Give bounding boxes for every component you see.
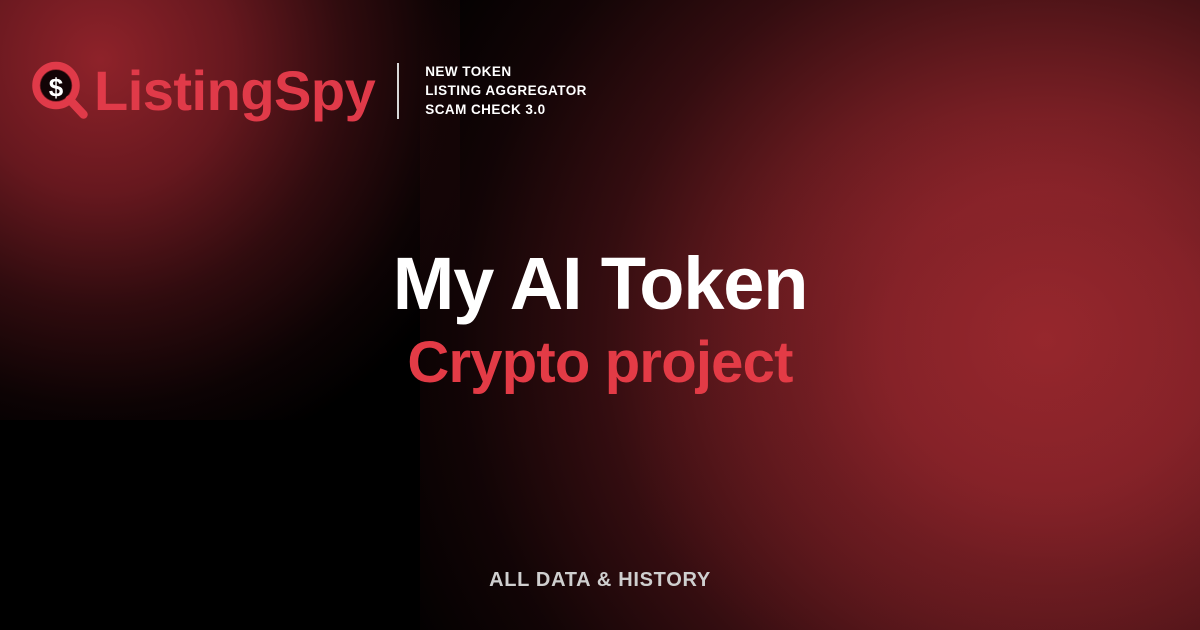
headline-block: My AI Token Crypto project [0, 246, 1200, 394]
brand-name: ListingSpy [94, 63, 375, 119]
magnifier-dollar-icon: $ [32, 61, 90, 121]
brand-lockup[interactable]: $ ListingSpy NEW TOKEN LISTING AGGREGATO… [32, 54, 587, 128]
tagline-line-2: LISTING AGGREGATOR [425, 83, 587, 99]
tagline-line-3: SCAM CHECK 3.0 [425, 102, 587, 118]
brand-divider [397, 63, 399, 119]
brand-tagline: NEW TOKEN LISTING AGGREGATOR SCAM CHECK … [425, 64, 587, 118]
svg-text:$: $ [49, 73, 64, 103]
og-card: $ ListingSpy NEW TOKEN LISTING AGGREGATO… [0, 0, 1200, 630]
page-title: My AI Token [0, 246, 1200, 321]
page-subtitle: Crypto project [0, 333, 1200, 394]
tagline-line-1: NEW TOKEN [425, 64, 587, 80]
footer-caption: ALL DATA & HISTORY [0, 569, 1200, 592]
